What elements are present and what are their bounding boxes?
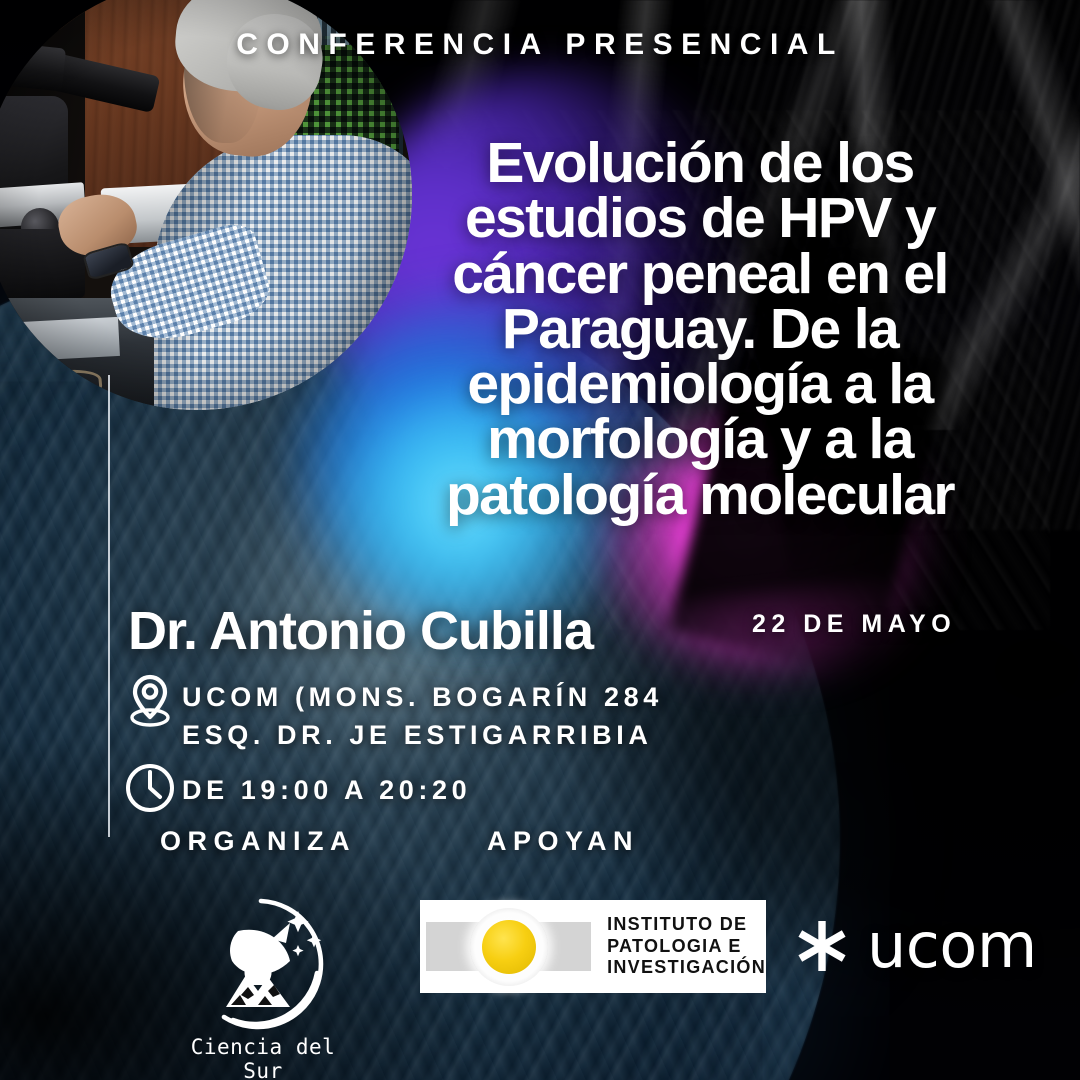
title-line-7: patología molecular [392,468,1008,523]
title-line-4: Paraguay. De la [392,302,1008,357]
instituto-line-1: INSTITUTO DE [607,914,766,936]
location-pin-icon [122,672,178,728]
logo-ciencia-del-sur-label: Ciencia del Sur [168,1035,358,1080]
instituto-line-2: PATOLOGIA E [607,936,766,958]
location-line-2: ESQ. DR. JE ESTIGARRIBIA [182,716,663,754]
time-line-1: DE 19:00 A 20:20 [182,771,471,809]
location-row: UCOM (MONS. BOGARÍN 284 ESQ. DR. JE ESTI… [122,672,663,755]
speaker-name: Dr. Antonio Cubilla [128,600,593,662]
logo-gray-bar [426,922,591,971]
title-line-1: Evolución de los [392,136,1008,191]
instituto-line-3: INVESTIGACIÓN [607,957,766,979]
logo-instituto-text: INSTITUTO DE PATOLOGIA E INVESTIGACIÓN [607,914,766,980]
logo-ciencia-del-sur[interactable]: Ciencia del Sur [168,895,358,1075]
logo-instituto-patologia[interactable]: INSTITUTO DE PATOLOGIA E INVESTIGACIÓN [420,900,766,993]
satellite-dish-mountain-icon [186,895,336,1035]
location-line-1: UCOM (MONS. BOGARÍN 284 [182,678,663,716]
asterisk-star-icon [793,917,851,975]
logo-ucom[interactable]: ucom [793,906,1043,986]
title-line-2: estudios de HPV y [392,191,1008,246]
sponsor-section-labels: ORGANIZA APOYAN [0,826,1080,872]
title-line-5: epidemiología a la [392,357,1008,412]
organiza-label: ORGANIZA [160,826,356,857]
title-line-6: morfología y a la [392,412,1008,467]
time-text: DE 19:00 A 20:20 [182,759,471,809]
page-title: Evolución de los estudios de HPV y cánce… [392,136,1008,523]
event-date: 22 DE MAYO [752,610,956,639]
event-poster: CONFERENCIA PRESENCIAL Evolución de los … [0,0,1080,1080]
event-details: UCOM (MONS. BOGARÍN 284 ESQ. DR. JE ESTI… [122,672,663,815]
location-text: UCOM (MONS. BOGARÍN 284 ESQ. DR. JE ESTI… [182,672,663,755]
kicker-label: CONFERENCIA PRESENCIAL [0,28,1080,62]
clock-icon [122,759,178,815]
time-row: DE 19:00 A 20:20 [122,759,663,815]
apoyan-label: APOYAN [487,826,639,857]
vertical-divider-line [108,375,110,837]
title-line-3: cáncer peneal en el [392,247,1008,302]
logo-ucom-wordmark: ucom [867,915,1037,977]
yellow-circle-icon [482,920,536,974]
